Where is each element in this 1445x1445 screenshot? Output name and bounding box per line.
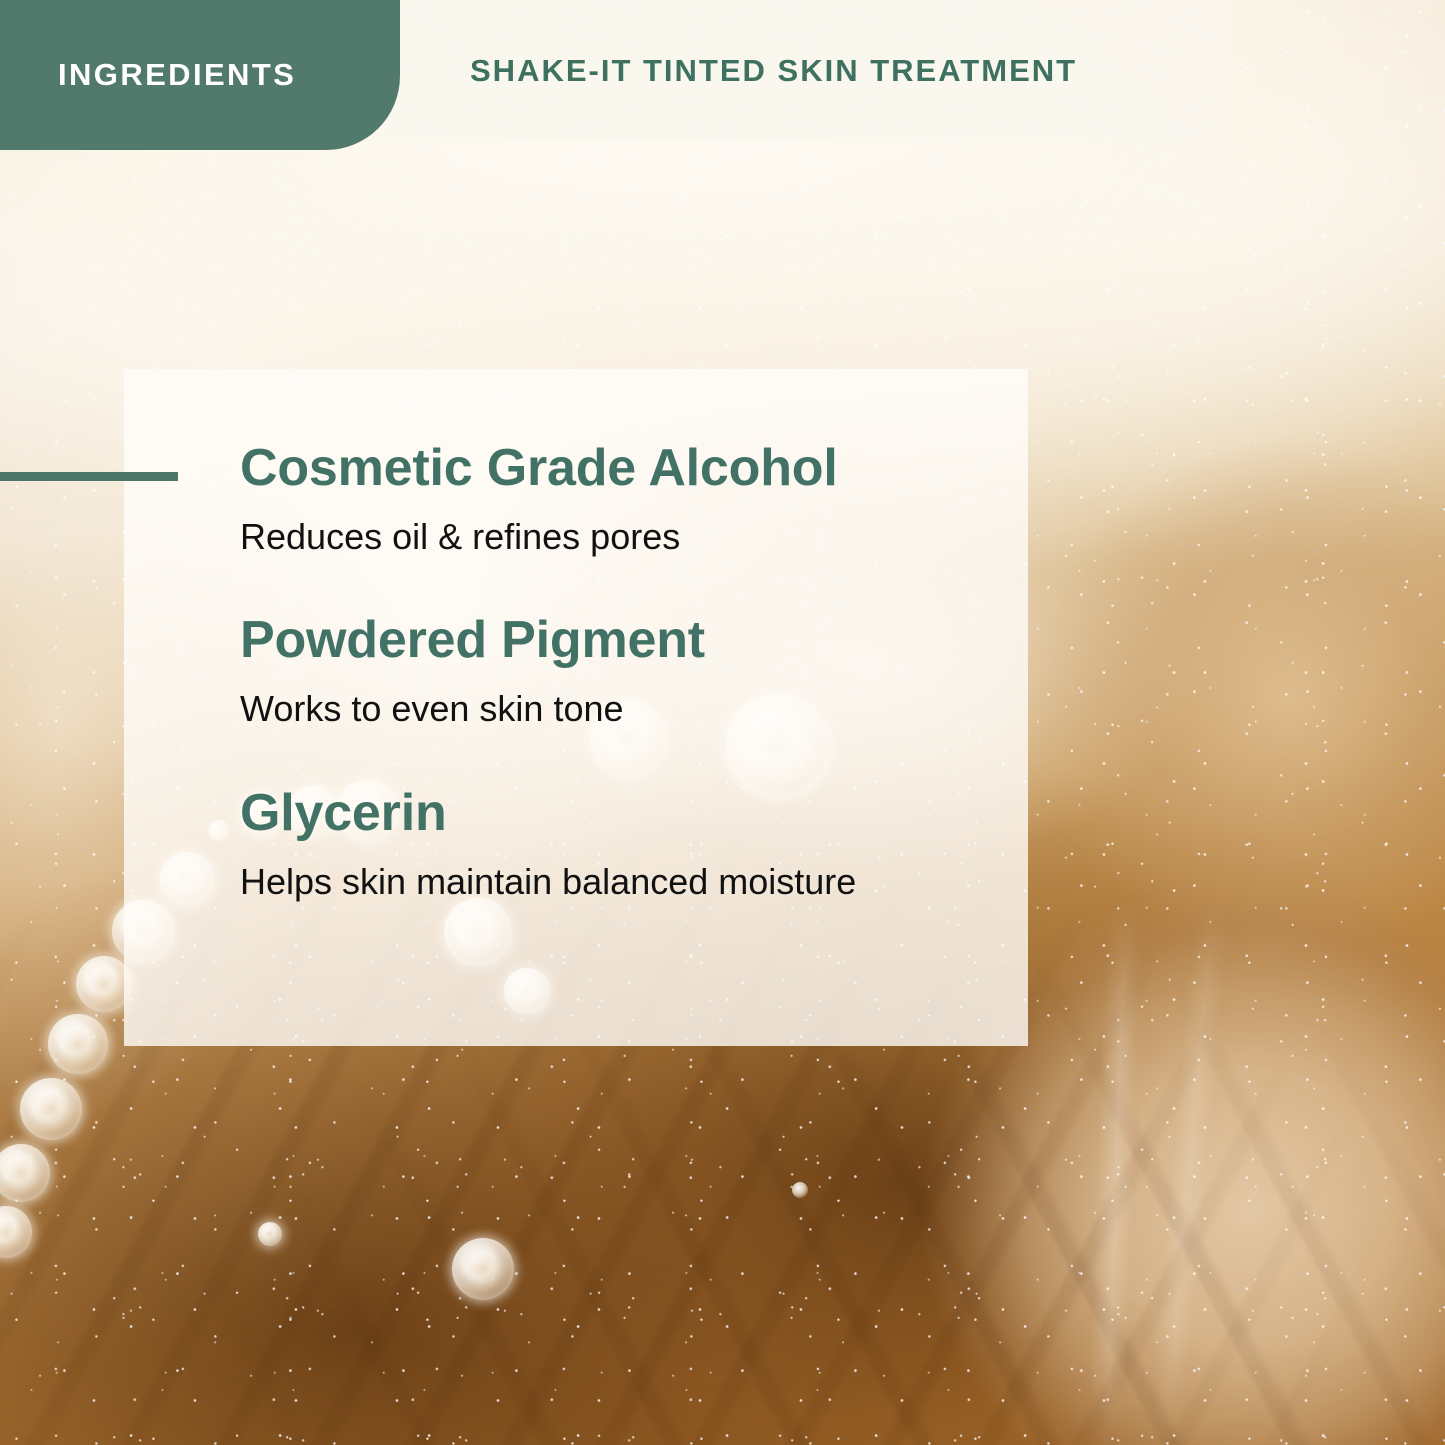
accent-rule bbox=[0, 472, 178, 481]
ingredients-infographic: INGREDIENTS SHAKE-IT TINTED SKIN TREATME… bbox=[0, 0, 1445, 1445]
ingredient-item: Powdered Pigment Works to even skin tone bbox=[240, 613, 1020, 729]
ingredient-title: Glycerin bbox=[240, 786, 1020, 840]
ingredients-tag: INGREDIENTS bbox=[0, 0, 400, 150]
ingredient-description: Works to even skin tone bbox=[240, 689, 1020, 729]
ingredients-card: Cosmetic Grade Alcohol Reduces oil & ref… bbox=[124, 369, 1028, 1046]
product-title: SHAKE-IT TINTED SKIN TREATMENT bbox=[470, 53, 1077, 89]
bubble-icon bbox=[258, 1222, 282, 1246]
ingredient-description: Reduces oil & refines pores bbox=[240, 517, 1020, 557]
ingredient-item: Cosmetic Grade Alcohol Reduces oil & ref… bbox=[240, 441, 1020, 557]
ingredients-list: Cosmetic Grade Alcohol Reduces oil & ref… bbox=[240, 441, 1020, 902]
bubble-icon bbox=[48, 1014, 108, 1074]
bubble-icon bbox=[792, 1182, 808, 1198]
bubble-icon bbox=[0, 1206, 32, 1258]
ingredient-description: Helps skin maintain balanced moisture bbox=[240, 862, 1020, 902]
ingredients-tag-label: INGREDIENTS bbox=[58, 57, 296, 93]
ingredient-title: Cosmetic Grade Alcohol bbox=[240, 441, 1020, 495]
bubble-icon bbox=[20, 1078, 82, 1140]
ingredient-title: Powdered Pigment bbox=[240, 613, 1020, 667]
bubble-icon bbox=[452, 1238, 514, 1300]
bubble-icon bbox=[0, 1144, 50, 1202]
product-title-container: SHAKE-IT TINTED SKIN TREATMENT bbox=[470, 0, 1077, 142]
ingredient-item: Glycerin Helps skin maintain balanced mo… bbox=[240, 786, 1020, 902]
